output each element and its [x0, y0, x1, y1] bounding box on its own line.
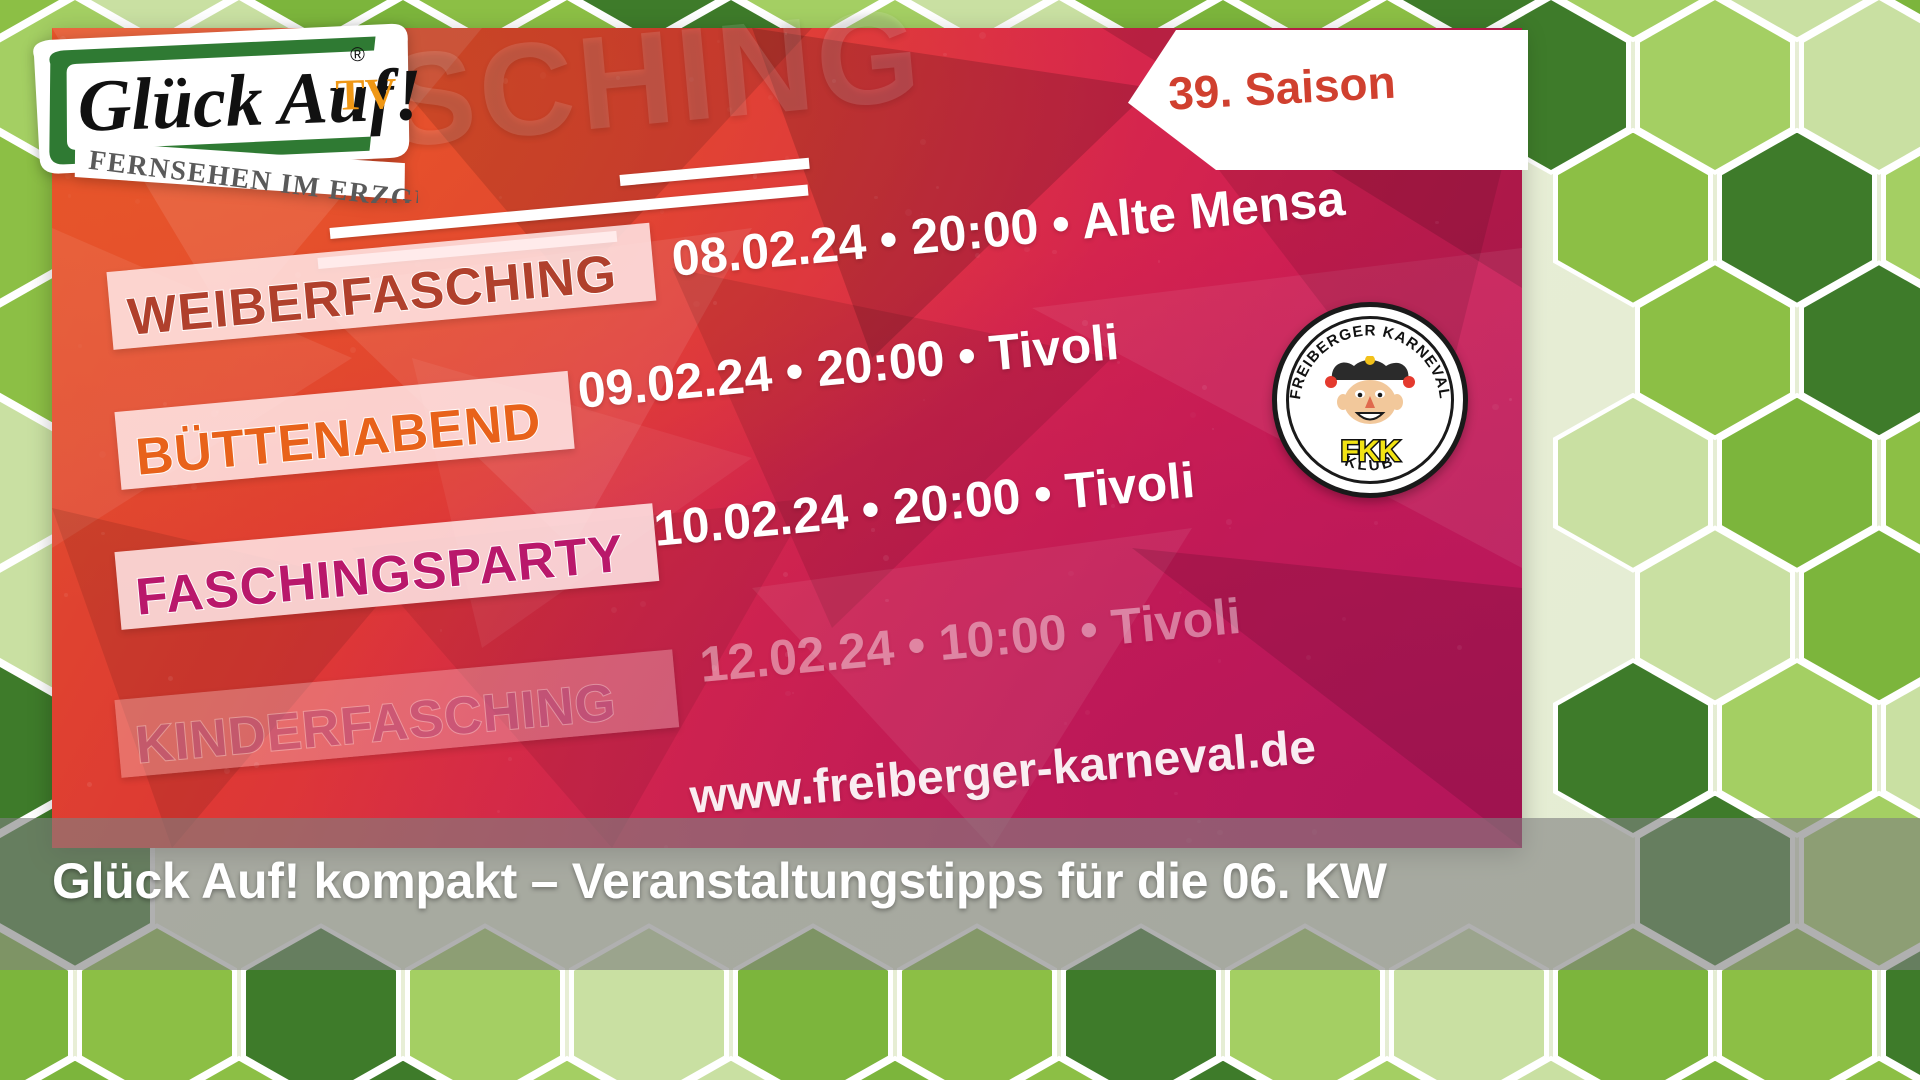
- speckle: [508, 757, 512, 761]
- jester-face-icon: [1324, 356, 1416, 430]
- speckle: [64, 593, 67, 596]
- speckle: [1158, 260, 1160, 262]
- club-logo-fkk: FREIBERGER KARNEVAL KLUB: [1272, 302, 1468, 498]
- lower-third-title: Glück Auf! kompakt – Veranstaltungstipps…: [52, 852, 1387, 910]
- speckle: [783, 572, 789, 578]
- speckle: [1212, 428, 1215, 431]
- speckle: [785, 691, 791, 697]
- speckle: [191, 484, 197, 490]
- gluck-auf-tv-logo: Glück Auf! TV ® FERNSEHEN IM ERZGEBIRGE: [18, 18, 418, 203]
- club-initials: FKK: [1341, 435, 1400, 469]
- speckle: [440, 629, 442, 631]
- speckle: [1085, 710, 1090, 715]
- speckle: [224, 768, 230, 774]
- speckle: [87, 782, 92, 787]
- speckle: [1174, 792, 1177, 795]
- speckle: [885, 599, 889, 603]
- speckle: [1229, 527, 1231, 529]
- speckle: [1190, 412, 1196, 418]
- speckle: [1218, 659, 1222, 663]
- speckle: [1435, 221, 1438, 224]
- speckle: [1492, 404, 1499, 411]
- speckle: [640, 601, 646, 607]
- speckle: [943, 53, 947, 57]
- broadcast-frame: FASCHING 39. Saison WEIBERFASCHING08.02.…: [0, 0, 1920, 1080]
- speckle: [497, 810, 500, 813]
- speckle: [1226, 519, 1232, 525]
- speckle: [611, 607, 617, 613]
- speckle: [1374, 521, 1378, 525]
- speckle: [920, 139, 926, 145]
- logo-tv-suffix: TV: [335, 69, 398, 120]
- speckle: [350, 347, 356, 353]
- speckle: [792, 692, 795, 695]
- speckle: [693, 301, 699, 307]
- speckle: [99, 451, 106, 458]
- speckle: [874, 196, 878, 200]
- speckle: [1068, 571, 1074, 577]
- speckle: [979, 32, 986, 39]
- speckle: [660, 210, 664, 214]
- speckle: [753, 174, 758, 179]
- logo-registered-mark: ®: [350, 44, 366, 67]
